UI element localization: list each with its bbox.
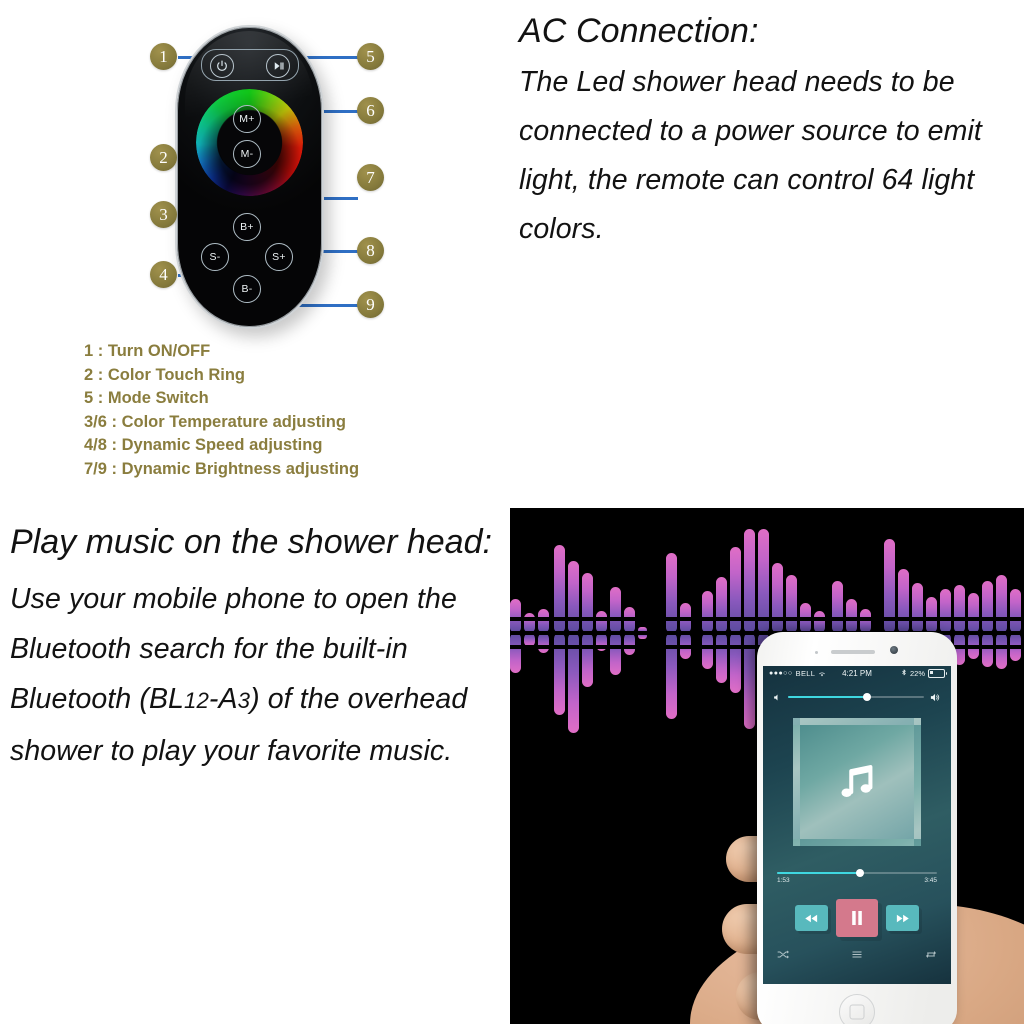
fast-forward-icon: [895, 913, 910, 924]
callout-badge-5: 5: [357, 43, 384, 70]
play-music-section: Play music on the shower head: Use your …: [10, 520, 510, 776]
ac-connection-title: AC Connection:: [519, 8, 1019, 54]
playback-progress[interactable]: 1:53 3:45: [777, 872, 937, 884]
device-code-sub2: 3: [238, 688, 250, 713]
play-music-title: Play music on the shower head:: [10, 520, 510, 564]
status-bar: ●●●○○ BELL 4:21 PM 22%: [763, 666, 951, 681]
pause-icon: [850, 910, 864, 926]
music-photo-panel: ●●●○○ BELL 4:21 PM 22%: [510, 508, 1024, 1024]
progress-knob[interactable]: [856, 869, 864, 877]
callout-badge-2: 2: [150, 144, 177, 171]
legend-item: 4/8 : Dynamic Speed adjusting: [84, 434, 484, 458]
callout-badge-4: 4: [150, 261, 177, 288]
callout-badge-9: 9: [357, 291, 384, 318]
waveform-bar-up: [786, 575, 797, 633]
play-pause-icon: [272, 60, 285, 73]
secondary-controls: [777, 950, 937, 959]
progress-track[interactable]: [777, 872, 937, 874]
button-speed-minus[interactable]: S-: [201, 243, 229, 271]
remote-diagram: M+ M- B+ S- S+ B- 1 2 3 4 5 6 7 8 9: [150, 18, 400, 338]
proximity-sensor: [815, 651, 818, 654]
waveform-bar-down: [996, 633, 1007, 669]
waveform-bar-up: [568, 561, 579, 633]
album-art: [793, 718, 921, 846]
callout-badge-8: 8: [357, 237, 384, 264]
waveform-bar-up: [996, 575, 1007, 633]
waveform-bar-up: [524, 613, 535, 633]
phone-screen: ●●●○○ BELL 4:21 PM 22%: [763, 666, 951, 984]
waveform-bar-down: [538, 633, 549, 653]
progress-times: 1:53 3:45: [777, 877, 937, 884]
button-speed-plus[interactable]: S+: [265, 243, 293, 271]
volume-slider-knob[interactable]: [863, 693, 871, 701]
rewind-button[interactable]: [795, 905, 828, 931]
ac-connection-section: AC Connection: The Led shower head needs…: [519, 8, 1019, 254]
volume-slider-row[interactable]: [773, 690, 941, 704]
ac-connection-body: The Led shower head needs to be connecte…: [519, 58, 1019, 254]
volume-slider-fill: [788, 696, 867, 698]
legend-item: 1 : Turn ON/OFF: [84, 340, 484, 364]
volume-slider-track[interactable]: [788, 696, 924, 698]
waveform-bar-up: [1010, 589, 1021, 633]
power-button[interactable]: [210, 54, 234, 78]
play-pause-button[interactable]: [266, 54, 290, 78]
earpiece-speaker: [831, 650, 875, 654]
volume-high-icon: [930, 692, 941, 703]
waveform-bar-down: [610, 633, 621, 675]
waveform-bar-up: [860, 609, 871, 633]
callout-badge-1: 1: [150, 43, 177, 70]
waveform-bar-up: [846, 599, 857, 633]
waveform-bar-up: [610, 587, 621, 633]
waveform-bar-up: [772, 563, 783, 633]
waveform-bar-up: [926, 597, 937, 633]
remote-body: M+ M- B+ S- S+ B-: [175, 25, 324, 329]
waveform-bar-up: [596, 611, 607, 633]
waveform-bar-up: [814, 611, 825, 633]
clock-label: 4:21 PM: [763, 669, 951, 678]
waveform-separator: [510, 617, 1024, 621]
legend-item: 2 : Color Touch Ring: [84, 364, 484, 388]
device-code-sub1: 12: [184, 688, 209, 713]
legend-item: 3/6 : Color Temperature adjusting: [84, 411, 484, 435]
smartphone: ●●●○○ BELL 4:21 PM 22%: [757, 632, 957, 1024]
callout-badge-3: 3: [150, 201, 177, 228]
music-note-icon: [834, 759, 880, 805]
legend-item: 5 : Mode Switch: [84, 387, 484, 411]
pause-button[interactable]: [836, 899, 878, 937]
shuffle-icon[interactable]: [777, 950, 789, 959]
rewind-icon: [804, 913, 819, 924]
play-music-body-part2: -A: [209, 683, 238, 715]
home-button[interactable]: [839, 994, 875, 1024]
waveform-bar-up: [582, 573, 593, 633]
infographic-stage: M+ M- B+ S- S+ B- 1 2 3 4 5 6 7 8 9 1 : …: [0, 0, 1024, 1024]
waveform-bar-up: [940, 589, 951, 633]
button-brightness-minus[interactable]: B-: [233, 275, 261, 303]
waveform-bar-down: [982, 633, 993, 667]
legend-list: 1 : Turn ON/OFF 2 : Color Touch Ring 5 :…: [84, 340, 484, 481]
waveform-bar-up: [716, 577, 727, 633]
front-camera: [890, 646, 898, 654]
waveform-bar-up: [982, 581, 993, 633]
total-time-label: 3:45: [924, 877, 937, 884]
waveform-bar-up: [666, 553, 677, 633]
top-button-group: [201, 49, 299, 81]
waveform-bar-up: [968, 593, 979, 633]
playback-controls: [787, 898, 927, 938]
waveform-bar-down: [582, 633, 593, 687]
legend-item: 7/9 : Dynamic Brightness adjusting: [84, 458, 484, 482]
play-music-body: Use your mobile phone to open the Blueto…: [10, 574, 510, 776]
waveform-bar-up: [538, 609, 549, 633]
waveform-bar-down: [716, 633, 727, 683]
waveform-bar-down: [510, 633, 521, 673]
waveform-bar-up: [832, 581, 843, 633]
progress-fill: [777, 872, 860, 874]
volume-low-icon: [773, 693, 782, 702]
waveform-bar-up: [898, 569, 909, 633]
waveform-bar-up: [954, 585, 965, 633]
callout-badge-6: 6: [357, 97, 384, 124]
button-mode-plus[interactable]: M+: [233, 105, 261, 133]
callout-badge-7: 7: [357, 164, 384, 191]
list-icon[interactable]: [851, 950, 863, 959]
battery-icon: [928, 669, 945, 678]
waveform-bar-up: [912, 583, 923, 633]
repeat-icon[interactable]: [925, 950, 937, 959]
power-icon: [216, 60, 229, 73]
button-mode-minus[interactable]: M-: [233, 140, 261, 168]
button-brightness-plus[interactable]: B+: [233, 213, 261, 241]
waveform-bar-up: [702, 591, 713, 633]
waveform-separator: [510, 631, 1024, 635]
elapsed-time-label: 1:53: [777, 877, 790, 884]
fast-forward-button[interactable]: [886, 905, 919, 931]
waveform-bar-down: [730, 633, 741, 693]
waveform-bar-up: [510, 599, 521, 633]
waveform-bar-down: [624, 633, 635, 655]
waveform-bar-down: [702, 633, 713, 669]
